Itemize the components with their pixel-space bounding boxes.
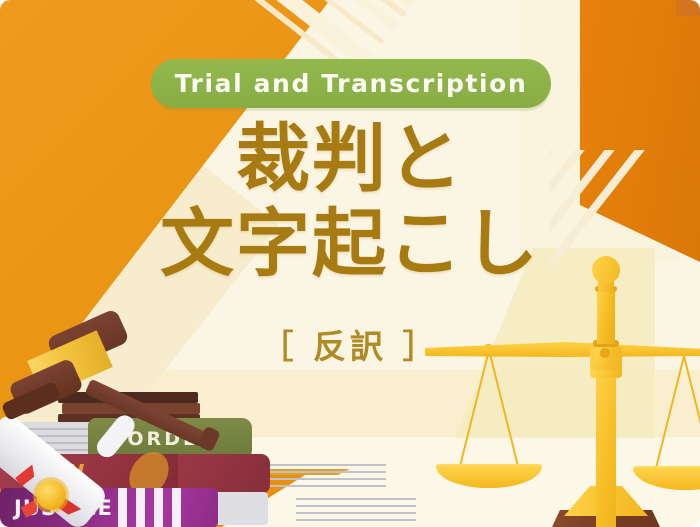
scale-right-pan xyxy=(633,468,700,490)
badge-pill: Trial and Transcription xyxy=(151,59,551,108)
page-title-line2: 文字起こし xyxy=(0,207,700,282)
page-title-line1: 裁判と xyxy=(0,122,700,197)
poster-canvas: ORDER LAW xyxy=(0,0,700,527)
orange-band-right-shade xyxy=(676,0,700,16)
badge-label: Trial and Transcription xyxy=(175,69,528,98)
scale-pillar xyxy=(596,368,616,527)
gavel-handle xyxy=(85,379,208,448)
scroll-wax-seal xyxy=(36,480,66,510)
page-title: 裁判と 文字起こし xyxy=(0,122,700,283)
scale-left-pan xyxy=(436,466,542,488)
scale-right-rope-b xyxy=(654,356,684,471)
scale-right-rope-a xyxy=(683,356,700,471)
scales-of-justice-icon xyxy=(430,248,700,527)
page-subtitle: ［ 反訳 ］ xyxy=(0,320,700,368)
